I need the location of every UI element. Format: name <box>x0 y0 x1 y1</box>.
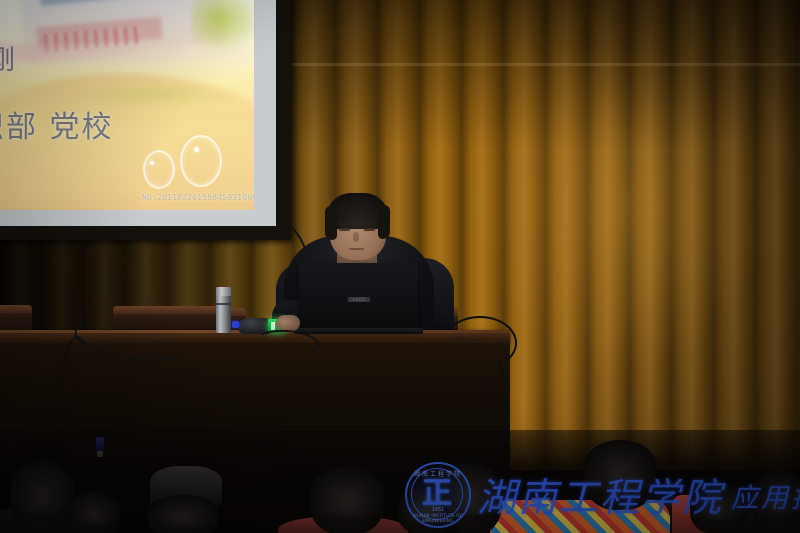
watermark: 湖南工程学院 正 1951 HUNAN INSTITUTE OF ENGINEE… <box>405 462 800 528</box>
watermark-institution-main: 湖南工程学院 <box>477 467 723 523</box>
speaker-eyebrow-right <box>363 223 376 225</box>
watermark-institution-sub: 应用技术学院 <box>731 476 800 515</box>
projection-screen-surface: 刚 织部 党校 NO:20110226155845931000 <box>0 0 254 210</box>
thermos-cap <box>216 287 231 296</box>
speaker-nose <box>353 232 359 242</box>
curtain-seam-line <box>290 63 800 66</box>
projection-screen-bezel: 刚 织部 党校 NO:20110226155845931000 <box>0 0 276 226</box>
slide-bubble-small-highlight <box>150 161 154 165</box>
chair-1-backrest <box>0 305 32 313</box>
speaker-eye-left <box>339 228 350 231</box>
laptop-base <box>295 328 423 334</box>
slide-bubble-large-icon <box>180 135 222 187</box>
laptop-brand-logo: ASUS <box>348 297 370 302</box>
slide-pink-band <box>0 44 254 62</box>
blue-connector-tip <box>232 321 239 328</box>
audience-head-1 <box>10 460 74 533</box>
speaker-eye-right <box>364 228 375 231</box>
audience-head-1-hair <box>10 460 74 513</box>
slide-bubble-small-icon <box>143 150 175 189</box>
speaker-hair-left <box>325 206 337 240</box>
slide-title-line1: 刚 <box>0 38 17 77</box>
audience-head-5 <box>310 467 384 533</box>
thermos-ring <box>216 303 231 305</box>
projection-screen-frame: 刚 织部 党校 NO:20110226155845931000 <box>0 0 291 240</box>
university-seal-icon: 湖南工程学院 正 1951 HUNAN INSTITUTE OF ENGINEE… <box>405 462 471 528</box>
screenshot-root: 刚 织部 党校 NO:20110226155845931000 <box>0 0 800 533</box>
slide-bubble-large-highlight <box>194 147 199 152</box>
audience-head-2-hair <box>68 492 120 524</box>
slide-title-line2: 织部 党校 <box>0 102 114 146</box>
audience-head-5-hair <box>310 467 384 516</box>
audience-head-3-hair <box>148 495 218 527</box>
speaker-hand <box>276 315 300 331</box>
speaker-eyebrow-left <box>338 223 351 225</box>
chair-2-backrest <box>113 306 221 314</box>
audience-head-3 <box>148 495 218 533</box>
slide-serial-number: NO:20110226155845931000 <box>142 193 254 202</box>
speaker-hair-right <box>378 205 390 239</box>
university-seal-bottom-text: HUNAN INSTITUTE OF ENGINEERING <box>407 513 469 523</box>
audience-head-2 <box>68 492 120 533</box>
speaker-mouth <box>349 248 364 250</box>
